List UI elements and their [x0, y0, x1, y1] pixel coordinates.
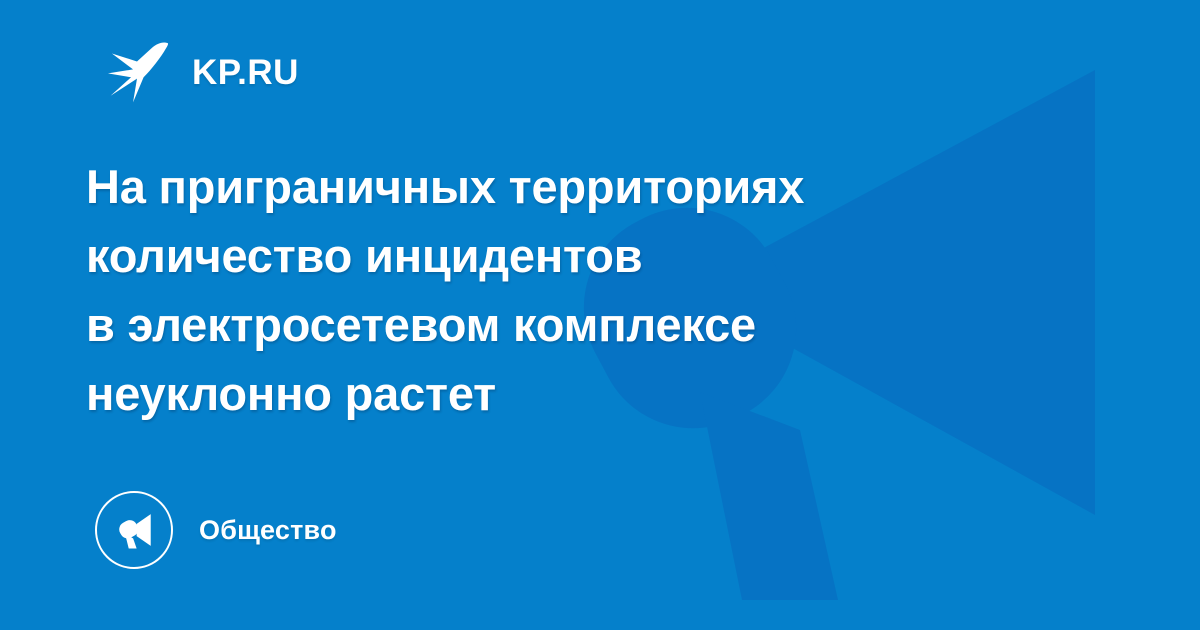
headline-line: На приграничных территориях [86, 152, 1106, 221]
rubric-badge[interactable]: Общество [95, 488, 337, 572]
brand-name: KP.RU [192, 55, 299, 90]
rubric-label: Общество [199, 515, 337, 546]
share-card: KP.RU На приграничных территориях количе… [0, 0, 1200, 630]
megaphone-icon [112, 508, 156, 552]
headline-line: количество инцидентов [86, 221, 1106, 290]
swallow-bird-icon [104, 39, 170, 105]
headline: На приграничных территориях количество и… [86, 152, 1106, 428]
rubric-icon-circle [95, 491, 173, 569]
brand-logo-row[interactable]: KP.RU [104, 34, 299, 110]
headline-line: неуклонно растет [86, 359, 1106, 428]
headline-line: в электросетевом комплексе [86, 290, 1106, 359]
